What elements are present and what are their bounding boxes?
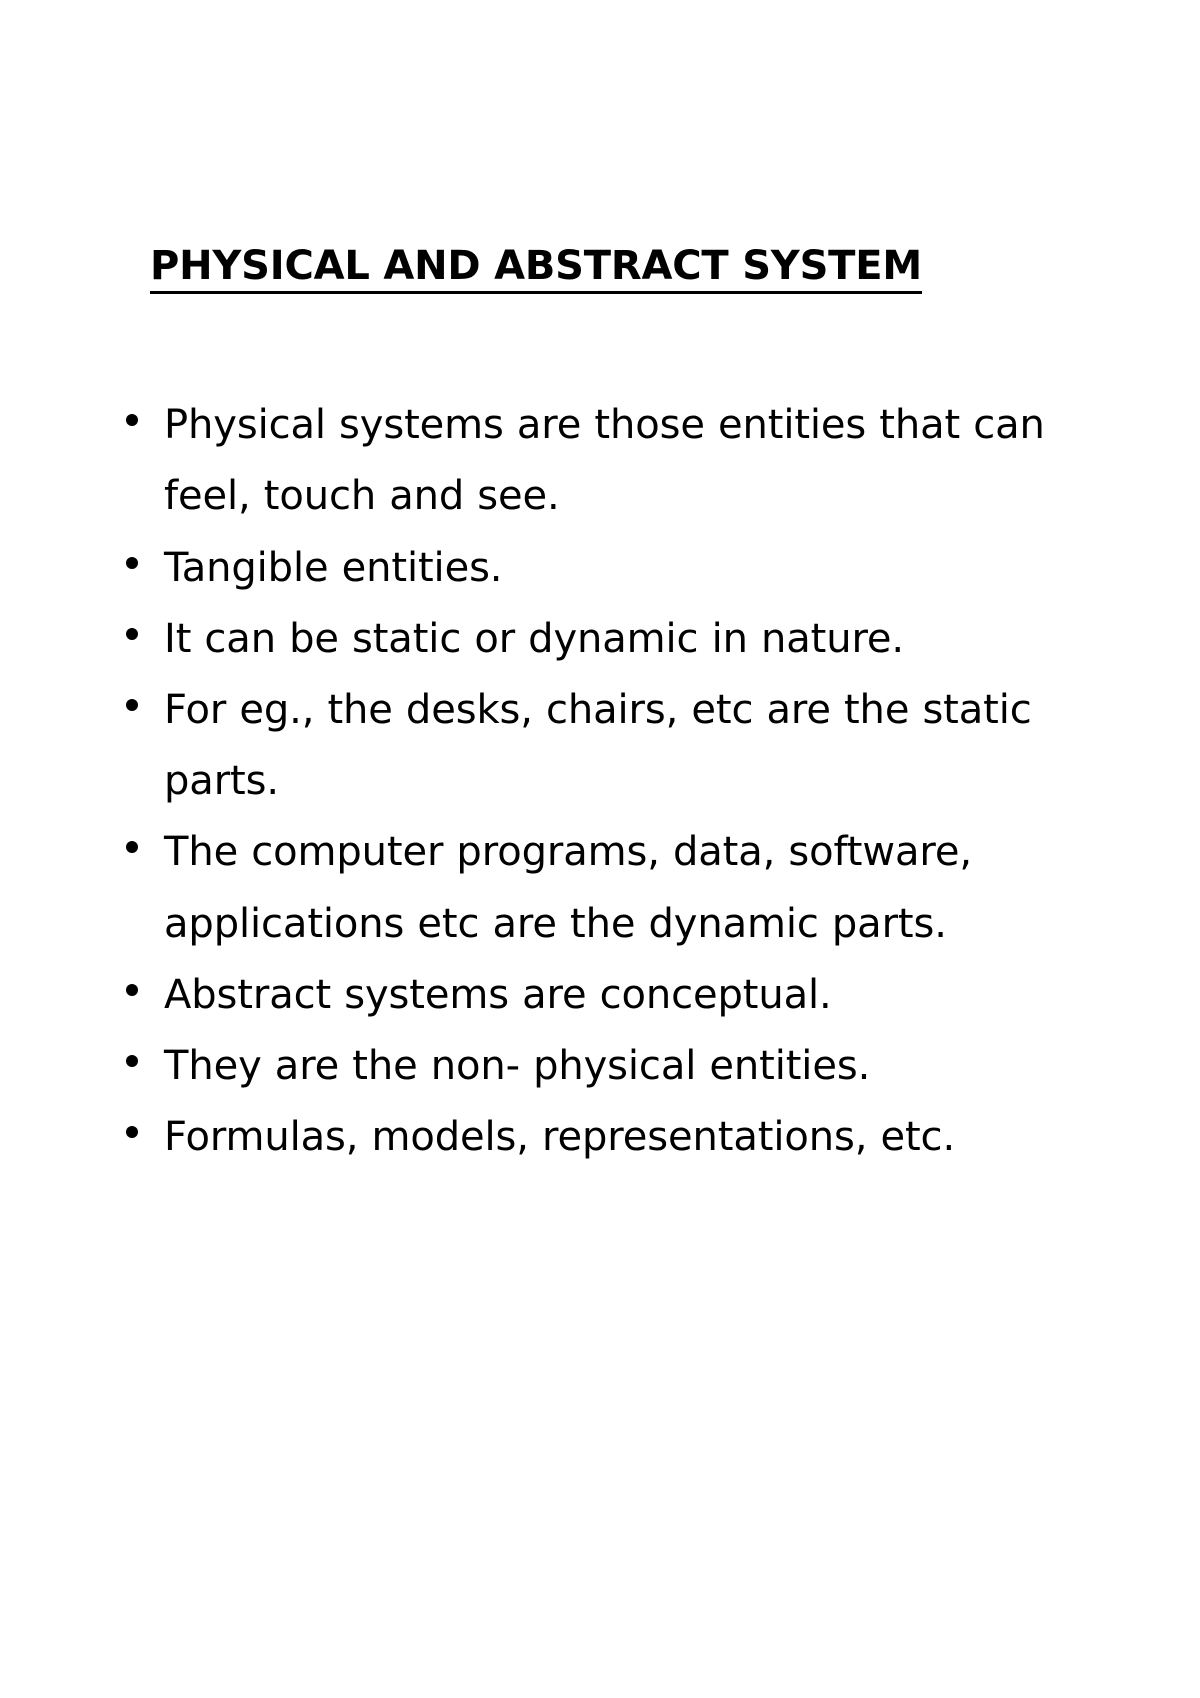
list-item-text: For eg., the desks, chairs, etc are the … — [164, 675, 1048, 817]
bullet-list: Physical systems are those entities that… — [118, 390, 1048, 1173]
bullet-dot-icon — [122, 1031, 142, 1102]
page-title-row: PHYSICAL AND ABSTRACT SYSTEM — [118, 243, 1048, 294]
list-item: The computer programs, data, software, a… — [118, 817, 1048, 959]
page-title: PHYSICAL AND ABSTRACT SYSTEM — [150, 243, 922, 294]
bullet-dot-icon — [122, 390, 142, 532]
bullet-dot-icon — [122, 675, 142, 817]
list-item: Formulas, models, representations, etc. — [118, 1102, 1048, 1173]
list-item: Physical systems are those entities that… — [118, 390, 1048, 532]
list-item-text: They are the non- physical entities. — [164, 1031, 1048, 1102]
list-item: They are the non- physical entities. — [118, 1031, 1048, 1102]
list-item: It can be static or dynamic in nature. — [118, 604, 1048, 675]
bullet-dot-icon — [122, 533, 142, 604]
bullet-dot-icon — [122, 604, 142, 675]
list-item-text: Formulas, models, representations, etc. — [164, 1102, 1048, 1173]
document-page: PHYSICAL AND ABSTRACT SYSTEM Physical sy… — [0, 0, 1200, 1698]
bullet-dot-icon — [122, 1102, 142, 1173]
document-body: PHYSICAL AND ABSTRACT SYSTEM Physical sy… — [118, 243, 1048, 1173]
list-item: Abstract systems are conceptual. — [118, 960, 1048, 1031]
list-item-text: Abstract systems are conceptual. — [164, 960, 1048, 1031]
bullet-dot-icon — [122, 817, 142, 959]
list-item: Tangible entities. — [118, 533, 1048, 604]
list-item-text: The computer programs, data, software, a… — [164, 817, 1048, 959]
list-item-text: It can be static or dynamic in nature. — [164, 604, 1048, 675]
list-item-text: Physical systems are those entities that… — [164, 390, 1048, 532]
bullet-dot-icon — [122, 960, 142, 1031]
list-item-text: Tangible entities. — [164, 533, 1048, 604]
list-item: For eg., the desks, chairs, etc are the … — [118, 675, 1048, 817]
